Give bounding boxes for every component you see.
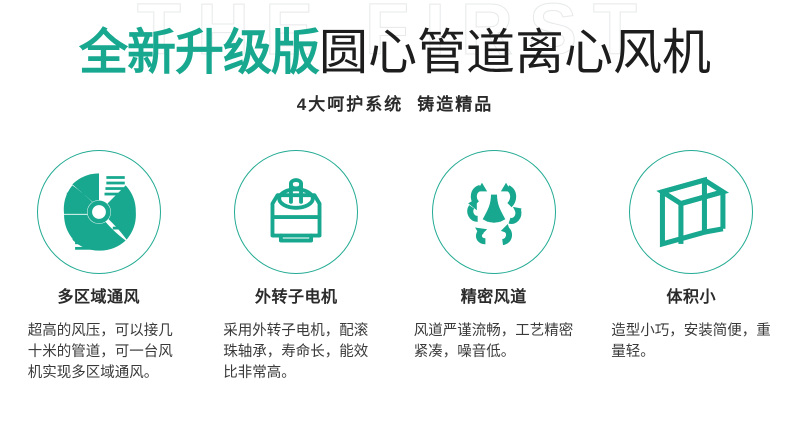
feature-item-multi-zone: 多区域通风 超高的风压，可以接几十米的管道，可一台风机实现多区域通风。 <box>0 150 198 384</box>
page-title-accent: 全新升级版 <box>79 24 319 81</box>
feature-title: 多区域通风 <box>57 290 140 306</box>
feature-item-precision-duct: 精密风道 风道严谨流畅，工艺精密紧凑，噪音低。 <box>395 150 593 363</box>
feature-title: 外转子电机 <box>255 290 338 306</box>
page-subtitle: 4大呵护系统铸造精品 <box>0 90 790 115</box>
wireframe-cube-icon <box>649 170 733 254</box>
external-rotor-motor-icon <box>254 170 338 254</box>
page-subtitle-right: 铸造精品 <box>417 95 493 114</box>
feature-description: 造型小巧，安装简便，重量轻。 <box>611 321 771 363</box>
feature-item-compact-size: 体积小 造型小巧，安装简便，重量轻。 <box>593 150 790 363</box>
feature-description: 采用外转子电机，配滚珠轴承，寿命长，能效比非常高。 <box>223 321 373 384</box>
feature-description: 风道严谨流畅，工艺精密紧凑，噪音低。 <box>414 321 574 363</box>
feature-list: 多区域通风 超高的风压，可以接几十米的管道，可一台风机实现多区域通风。 <box>0 150 790 384</box>
feature-icon-circle <box>37 150 161 274</box>
banner-header: THE FIRST 全新升级版圆心管道离心风机 4大呵护系统铸造精品 <box>0 0 790 132</box>
page-subtitle-left: 4大呵护系统 <box>297 95 403 114</box>
feature-icon-circle <box>432 150 556 274</box>
page-title: 全新升级版圆心管道离心风机 <box>0 28 790 78</box>
feature-icon-circle <box>234 150 358 274</box>
feature-title: 精密风道 <box>461 290 527 306</box>
feature-description: 超高的风压，可以接几十米的管道，可一台风机实现多区域通风。 <box>28 321 176 384</box>
feature-title: 体积小 <box>666 290 716 306</box>
feature-item-external-rotor-motor: 外转子电机 采用外转子电机，配滚珠轴承，寿命长，能效比非常高。 <box>198 150 396 384</box>
airflow-duct-icon <box>451 169 537 255</box>
fan-impeller-icon <box>53 166 145 258</box>
page-title-plain: 圆心管道离心风机 <box>319 26 711 80</box>
feature-icon-circle <box>629 150 753 274</box>
